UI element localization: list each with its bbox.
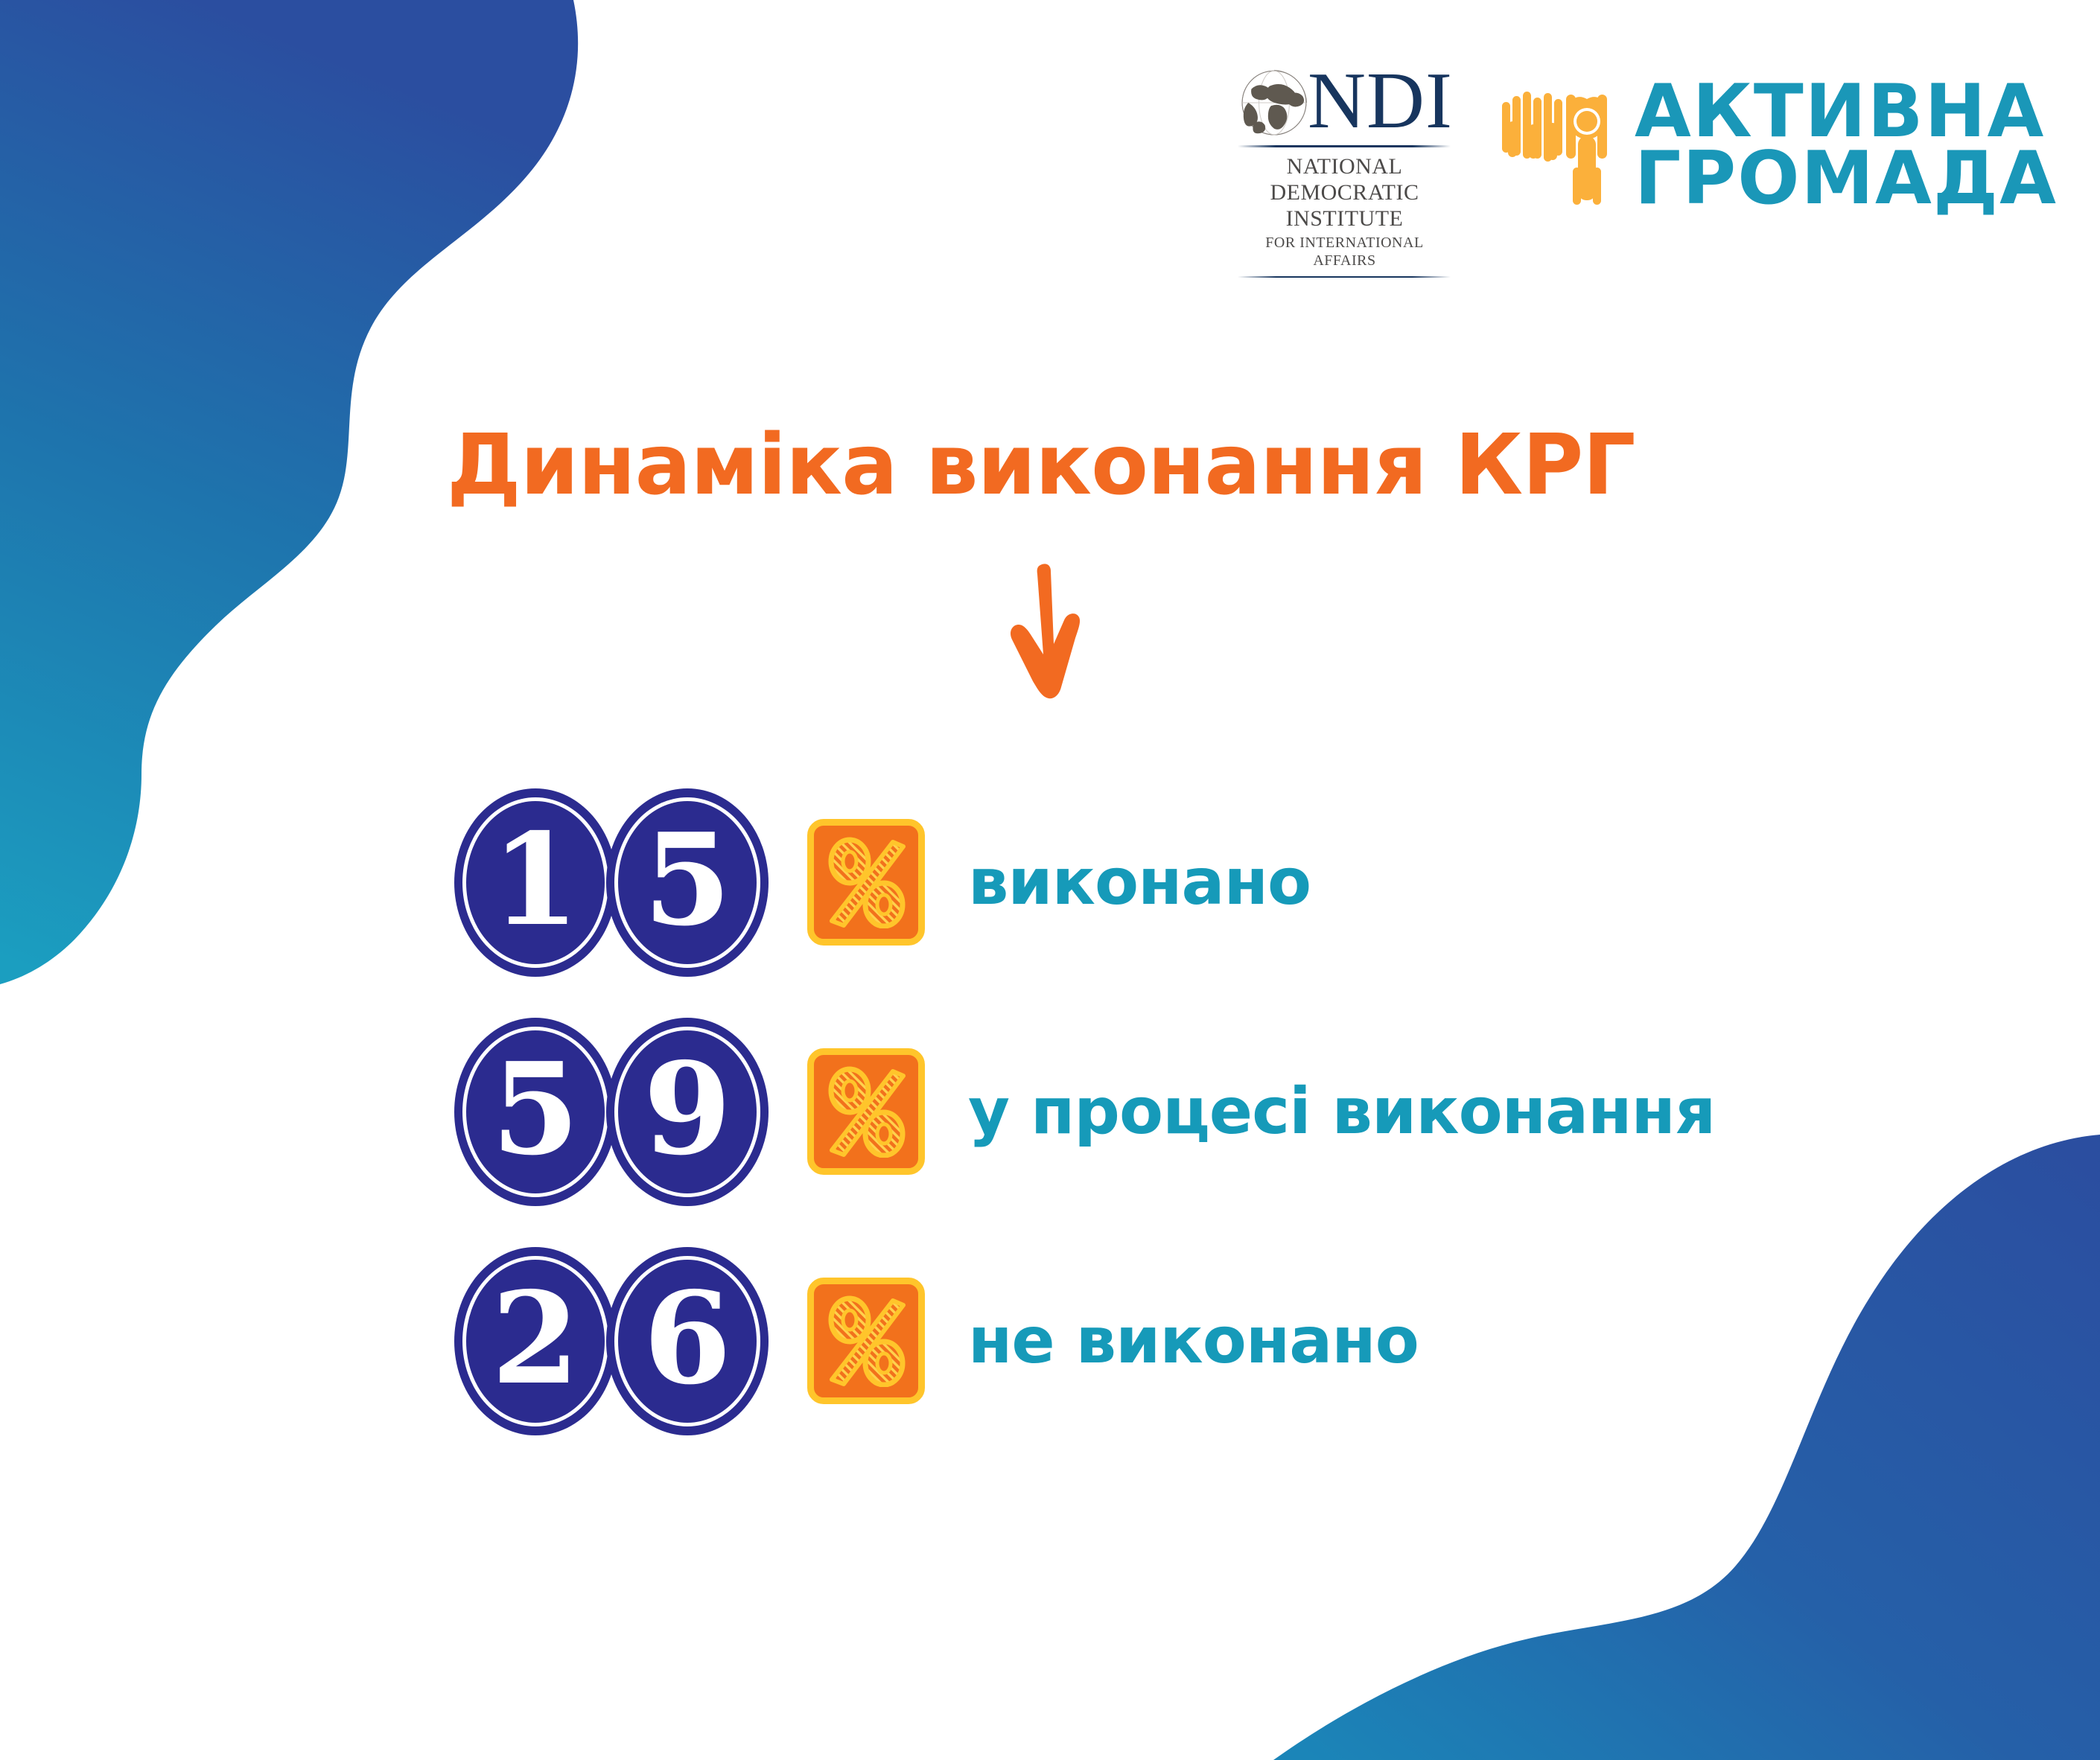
digit-value: 1 [454,788,617,977]
digit-group: 5 9 [454,1018,782,1206]
percent-badge [807,819,925,946]
people-raising-hands-icon [1498,78,1617,212]
digit-group: 2 6 [454,1247,782,1435]
digit-value: 2 [454,1247,617,1435]
active-community-line2: ГРОМАДА [1635,145,2058,212]
ndi-tagline-line2: DEMOCRATIC [1236,180,1453,206]
arrow-down-icon [1002,562,1098,707]
ndi-divider-top [1238,145,1451,147]
digit-badge: 2 [454,1247,617,1435]
ndi-logo-top: NDI [1236,63,1453,139]
digit-value: 5 [606,788,769,977]
ndi-divider-bottom [1238,276,1451,278]
logo-strip: NDI NATIONAL DEMOCRATIC INSTITUTE FOR IN… [1236,63,1988,279]
stat-row: 2 6 не виконано [454,1244,1981,1438]
ndi-logo: NDI NATIONAL DEMOCRATIC INSTITUTE FOR IN… [1236,63,1453,278]
stat-label: у процесі виконання [968,1074,1715,1149]
percent-icon [824,836,908,928]
ndi-tagline: NATIONAL DEMOCRATIC INSTITUTE FOR INTERN… [1236,154,1453,270]
digit-group: 1 5 [454,788,782,977]
digit-value: 5 [454,1018,617,1206]
stat-row: 1 5 [454,785,1981,979]
active-community-line1: АКТИВНА [1635,78,2058,145]
digit-badge: 5 [454,1018,617,1206]
ndi-tagline-line4: FOR INTERNATIONAL AFFAIRS [1236,235,1453,269]
stat-label: виконано [968,845,1311,919]
stat-row: 5 9 у процесі виконання [454,1015,1981,1208]
stat-label: не виконано [968,1304,1419,1378]
globe-icon [1236,63,1312,139]
digit-value: 9 [606,1018,769,1206]
ndi-tagline-line1: NATIONAL [1236,154,1453,180]
percent-badge [807,1278,925,1404]
digit-value: 6 [606,1247,769,1435]
active-community-wordmark: АКТИВНА ГРОМАДА [1635,78,2058,212]
digit-badge: 5 [606,788,769,977]
digit-badge: 9 [606,1018,769,1206]
ndi-tagline-line3: INSTITUTE [1236,206,1453,232]
percent-icon [824,1295,908,1387]
percent-badge [807,1048,925,1175]
stats-list: 1 5 [454,785,1981,1473]
ndi-wordmark: NDI [1308,64,1453,138]
infographic-canvas: NDI NATIONAL DEMOCRATIC INSTITUTE FOR IN… [0,0,2100,1760]
page-title: Динаміка виконання КРГ [447,417,1635,514]
percent-icon [824,1065,908,1158]
digit-badge: 6 [606,1247,769,1435]
digit-badge: 1 [454,788,617,977]
active-community-logo: АКТИВНА ГРОМАДА [1498,78,2058,212]
